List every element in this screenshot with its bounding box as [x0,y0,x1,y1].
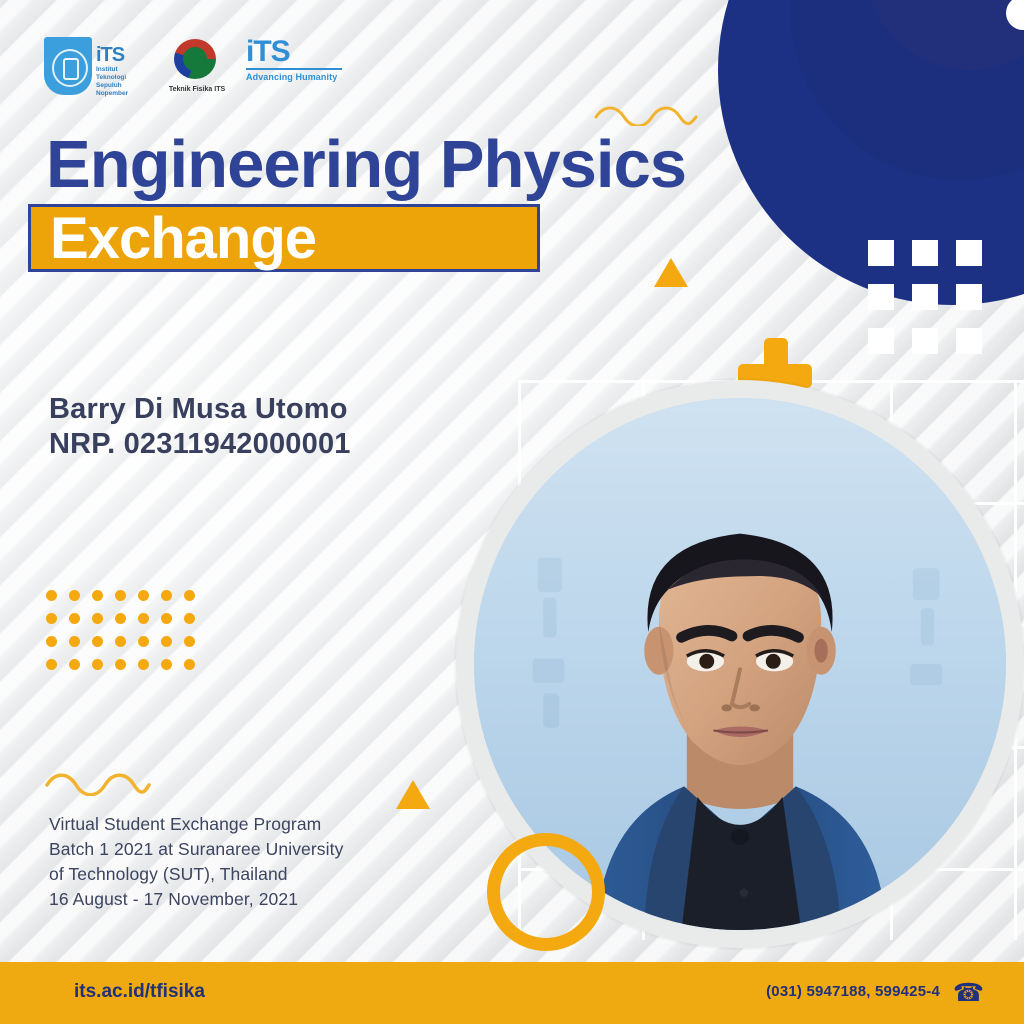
its-seal-line1: Institut [96,66,148,74]
its-seal-line2: Teknologi [96,74,148,82]
dot [46,659,57,670]
program-line-1: Virtual Student Exchange Program [49,812,343,837]
dot [184,613,195,624]
dot [138,613,149,624]
dot [69,636,80,647]
dot [46,636,57,647]
dot [161,659,172,670]
white-square [868,284,894,310]
program-description: Virtual Student Exchange Program Batch 1… [49,812,343,911]
dot [69,659,80,670]
headline-line-2: Exchange [50,206,316,272]
white-square [956,328,982,354]
program-line-3: of Technology (SUT), Thailand [49,862,343,887]
white-square [868,328,894,354]
teknik-fisika-caption: Teknik Fisika ITS [162,86,232,93]
dot [161,613,172,624]
dot [115,636,126,647]
footer-phone: (031) 5947188, 599425-4 [766,983,940,1000]
wavy-line-icon [44,770,152,796]
wavy-line-icon [594,104,698,126]
white-square [868,240,894,266]
circle-outline-icon [487,833,605,951]
dot [115,659,126,670]
its-advancing-rule [246,68,342,70]
its-seal-emblem-icon [52,49,88,87]
triangle-icon [396,780,430,809]
dot [46,590,57,601]
its-seal-line3: Sepuluh Nopember [96,82,148,98]
white-square-grid [868,240,982,354]
triangle-icon [654,258,688,287]
white-square [912,328,938,354]
white-square [956,240,982,266]
student-info: Barry Di Musa Utomo NRP. 02311942000001 [49,392,351,463]
dot [184,659,195,670]
teknik-fisika-emblem-icon [174,39,216,79]
dot [92,590,103,601]
dot [184,590,195,601]
its-seal-logo: iTS Institut Teknologi Sepuluh Nopember [44,37,148,95]
dot [161,590,172,601]
telephone-icon: ☎ [953,978,984,1008]
poster-canvas: iTS Institut Teknologi Sepuluh Nopember … [0,0,1024,1024]
dot [92,636,103,647]
program-line-4: 16 August - 17 November, 2021 [49,887,343,912]
white-square [956,284,982,310]
dot [115,590,126,601]
dot [138,590,149,601]
dot [138,659,149,670]
headline-line-1: Engineering Physics [46,126,686,203]
its-advancing-abbrev: iTS [246,37,346,67]
dot [92,613,103,624]
dot [184,636,195,647]
footer-bar: its.ac.id/tfisika (031) 5947188, 599425-… [0,962,1024,1024]
student-nrp: NRP. 02311942000001 [49,427,351,462]
student-name: Barry Di Musa Utomo [49,392,351,427]
dot [138,636,149,647]
dot-matrix-decoration [46,590,195,670]
program-line-2: Batch 1 2021 at Suranaree University [49,837,343,862]
dot [161,636,172,647]
dot [92,659,103,670]
its-seal-abbrev: iTS [96,45,148,65]
footer-website[interactable]: its.ac.id/tfisika [74,981,205,1003]
white-square [912,240,938,266]
logo-row: iTS Institut Teknologi Sepuluh Nopember … [44,36,346,96]
dot [46,613,57,624]
dot [69,613,80,624]
dot [69,590,80,601]
teknik-fisika-logo: Teknik Fisika ITS [162,37,232,95]
white-square [912,284,938,310]
its-advancing-tagline: Advancing Humanity [246,72,346,82]
dot [115,613,126,624]
its-seal-plate [44,37,92,95]
its-advancing-humanity-logo: iTS Advancing Humanity [246,37,346,95]
